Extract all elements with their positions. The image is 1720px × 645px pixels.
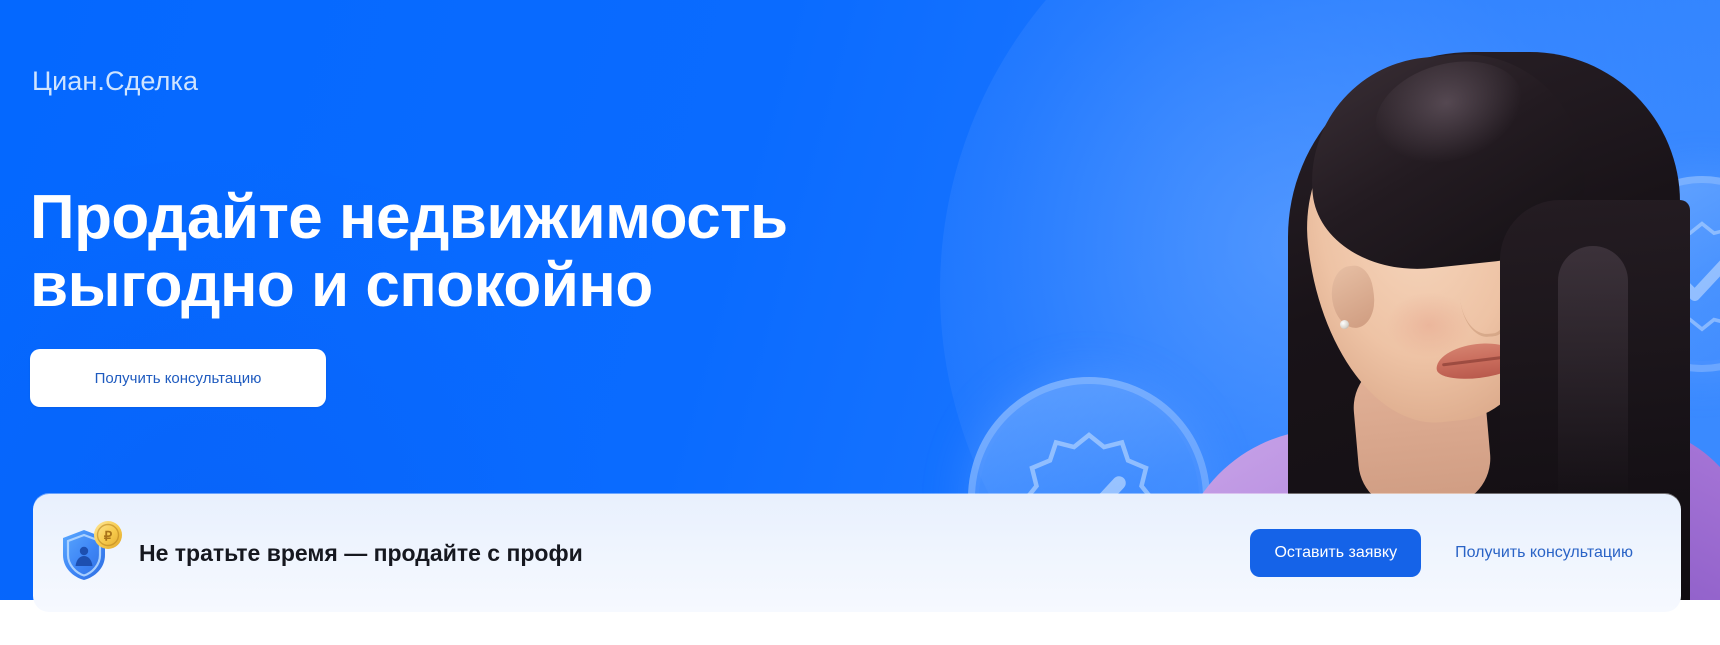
sticky-bar-title: Не тратьте время — продайте с профи — [139, 540, 583, 567]
get-consultation-link-button[interactable]: Получить консультацию — [1433, 529, 1655, 577]
hero-get-consultation-button[interactable]: Получить консультацию — [30, 349, 326, 407]
page-title: Продайте недвижимость выгодно и спокойно — [30, 184, 990, 320]
ruble-coin-icon: ₽ — [93, 520, 123, 550]
hero-title-line-1: Продайте недвижимость — [30, 184, 990, 252]
brand-logo[interactable]: Циан.Сделка — [32, 68, 198, 95]
shield-with-ruble-coin-icon: ₽ — [59, 522, 121, 584]
hero-title-line-2: выгодно и спокойно — [30, 252, 990, 320]
svg-text:₽: ₽ — [104, 529, 113, 544]
leave-request-button[interactable]: Оставить заявку — [1250, 529, 1421, 577]
landing-page-screen: Циан.Сделка Продайте недвижимость выгодн… — [0, 0, 1720, 645]
sticky-cta-bar: ₽ Не тратьте время — продайте с профи Ос… — [33, 494, 1681, 612]
